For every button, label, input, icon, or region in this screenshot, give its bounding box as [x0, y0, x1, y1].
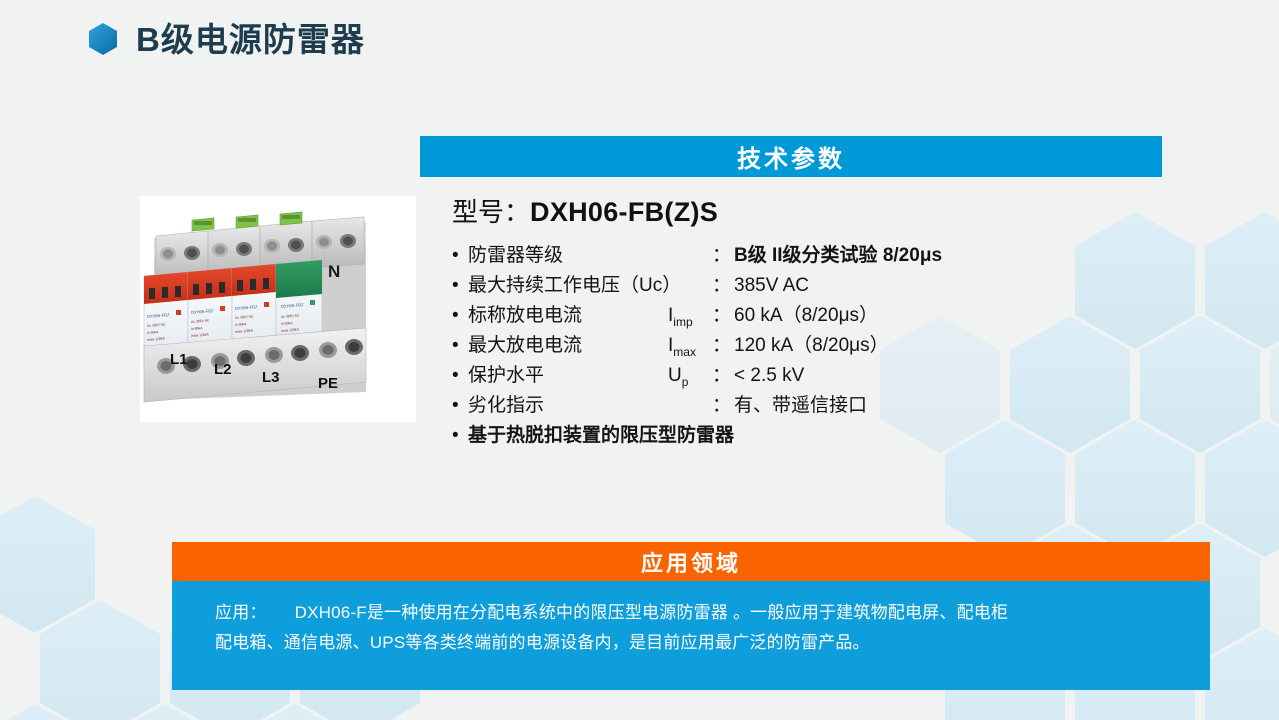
spec-value: 385V AC: [734, 276, 809, 295]
spec-colon: ：: [712, 306, 734, 325]
spec-colon: ：: [712, 246, 734, 265]
spec-label: 最大放电电流: [468, 336, 668, 355]
spec-row-indicator: • 劣化指示 ： 有、带遥信接口: [452, 396, 1152, 426]
bullet-dot: •: [452, 306, 468, 325]
tech-parameters-header: 技术参数: [420, 136, 1162, 177]
spec-value: B级 II级分类试验 8/20μs: [734, 246, 942, 265]
spec-row-uc: • 最大持续工作电压（Uc） ： 385V AC: [452, 276, 1152, 306]
spec-row-imax: • 最大放电电流 Imax ： 120 kA（8/20μs）: [452, 336, 1152, 366]
application-header: 应用领域: [172, 542, 1210, 581]
bullet-dot: •: [452, 396, 468, 415]
spec-colon: ：: [712, 276, 734, 295]
svg-text:N: N: [328, 262, 340, 281]
hexagon-icon: [88, 22, 118, 56]
application-header-label: 应用领域: [641, 546, 741, 578]
spec-symbol: Up: [668, 366, 712, 388]
spec-symbol: Imax: [668, 336, 712, 358]
model-value: DXH06-FB(Z)S: [530, 197, 718, 227]
tech-spec-block: 型号：DXH06-FB(Z)S • 防雷器等级 ： B级 II级分类试验 8/2…: [452, 196, 1152, 456]
model-line: 型号：DXH06-FB(Z)S: [452, 196, 1152, 230]
spec-colon: ：: [712, 336, 734, 355]
spec-row-up: • 保护水平 Up ： < 2.5 kV: [452, 366, 1152, 396]
svg-text:PE: PE: [318, 375, 338, 392]
spec-colon: ：: [712, 396, 734, 415]
spec-note-text: 基于热脱扣装置的限压型防雷器: [468, 426, 734, 445]
spec-row-note: • 基于热脱扣装置的限压型防雷器: [452, 426, 1152, 456]
page-title-text: B级电源防雷器: [136, 23, 365, 56]
spec-label: 劣化指示: [468, 396, 668, 415]
tech-parameters-header-label: 技术参数: [737, 139, 845, 174]
bullet-dot: •: [452, 426, 468, 445]
spec-label: 标称放电电流: [468, 306, 668, 325]
application-body: 应用：DXH06-F是一种使用在分配电系统中的限压型电源防雷器 。一般应用于建筑…: [172, 581, 1210, 690]
svg-text:L1: L1: [170, 351, 188, 368]
bullet-dot: •: [452, 366, 468, 385]
product-image: N DXH06-FBZ DXH06-FBZ DXH06-FBZ DXH06-FB…: [140, 196, 416, 422]
spec-row-grade: • 防雷器等级 ： B级 II级分类试验 8/20μs: [452, 246, 1152, 276]
application-line-2: 配电箱、通信电源、UPS等各类终端前的电源设备内，是目前应用最广泛的防雷产品。: [215, 633, 870, 652]
spec-row-iimp: • 标称放电电流 Iimp ： 60 kA（8/20μs）: [452, 306, 1152, 336]
bullet-dot: •: [452, 276, 468, 295]
spec-value: 有、带遥信接口: [734, 396, 867, 415]
spec-value: 60 kA（8/20μs）: [734, 306, 878, 325]
spec-colon: ：: [712, 366, 734, 385]
svg-text:L2: L2: [214, 361, 232, 378]
page-title: B级电源防雷器: [88, 22, 365, 56]
bullet-dot: •: [452, 336, 468, 355]
svg-text:L3: L3: [262, 369, 280, 386]
spec-label: 保护水平: [468, 366, 668, 385]
spec-value: < 2.5 kV: [734, 366, 804, 385]
spec-label: 最大持续工作电压（Uc）: [468, 276, 668, 295]
application-lead-label: 应用：: [215, 603, 267, 622]
application-line-2-row: 配电箱、通信电源、UPS等各类终端前的电源设备内，是目前应用最广泛的防雷产品。: [215, 628, 1198, 658]
spec-list: • 防雷器等级 ： B级 II级分类试验 8/20μs • 最大持续工作电压（U…: [452, 246, 1152, 456]
spec-label: 防雷器等级: [468, 246, 668, 265]
bullet-dot: •: [452, 246, 468, 265]
application-paragraph: 应用：DXH06-F是一种使用在分配电系统中的限压型电源防雷器 。一般应用于建筑…: [215, 598, 1198, 628]
model-label: 型号：: [452, 197, 530, 227]
application-line-1: DXH06-F是一种使用在分配电系统中的限压型电源防雷器 。一般应用于建筑物配电…: [295, 603, 1009, 622]
spec-symbol: Iimp: [668, 306, 712, 328]
spec-value: 120 kA（8/20μs）: [734, 336, 889, 355]
